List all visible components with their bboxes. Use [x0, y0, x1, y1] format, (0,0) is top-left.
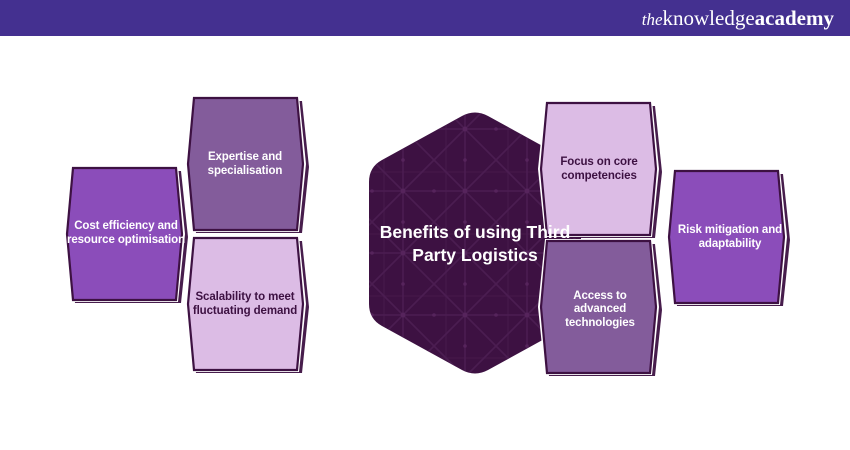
hexagon-focus-core-competencies[interactable]	[538, 101, 662, 238]
hexagon-scalability[interactable]	[185, 236, 309, 373]
header-bar: theknowledgeacademy	[0, 0, 850, 36]
the-knowledge-academy-logo[interactable]: theknowledgeacademy	[642, 8, 834, 29]
hexagon-shapes-svg	[0, 36, 850, 450]
benefits-hexagon-diagram: Cost efficiency and resource optimisatio…	[0, 36, 850, 450]
hexagon-access-advanced-technologies[interactable]	[538, 239, 662, 376]
hexagon-expertise[interactable]	[185, 96, 309, 233]
hexagon-cost-efficiency[interactable]	[64, 166, 188, 303]
logo-word-knowledge: knowledge	[663, 6, 755, 30]
logo-word-the: the	[642, 10, 663, 29]
logo-word-academy: academy	[755, 6, 834, 30]
hexagon-risk-mitigation[interactable]	[666, 169, 790, 306]
